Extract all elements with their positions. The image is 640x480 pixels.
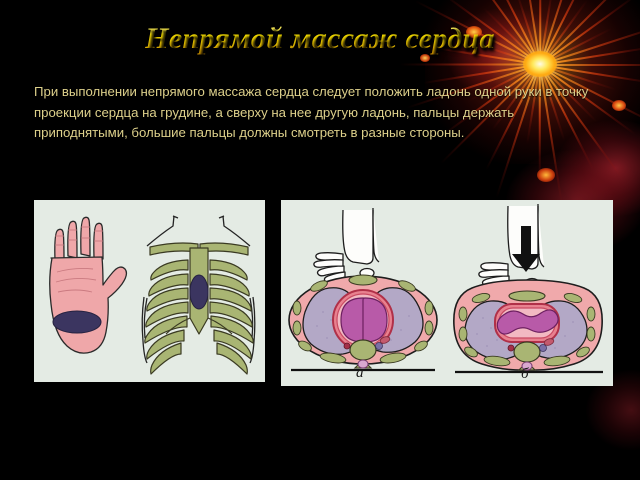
compression-point-marker-palm	[53, 311, 101, 333]
firework-spark	[537, 168, 555, 182]
compression-point-marker-sternum	[190, 275, 208, 309]
figure-label-a: а	[356, 365, 364, 382]
slide-title: Непрямой массаж сердца	[0, 22, 640, 56]
slide-body-text: При выполнении непрямого массажа сердца …	[34, 82, 606, 144]
figure-thorax-cross-sections: а б	[281, 200, 613, 386]
firework-spark	[612, 100, 626, 111]
thorax-cross-section-illustration	[281, 200, 613, 386]
hand-and-ribcage-illustration	[34, 200, 265, 382]
presentation-slide: Непрямой массаж сердца При выполнении не…	[0, 0, 640, 480]
figure-label-b: б	[521, 366, 529, 383]
figure-hand-and-ribcage	[34, 200, 265, 382]
